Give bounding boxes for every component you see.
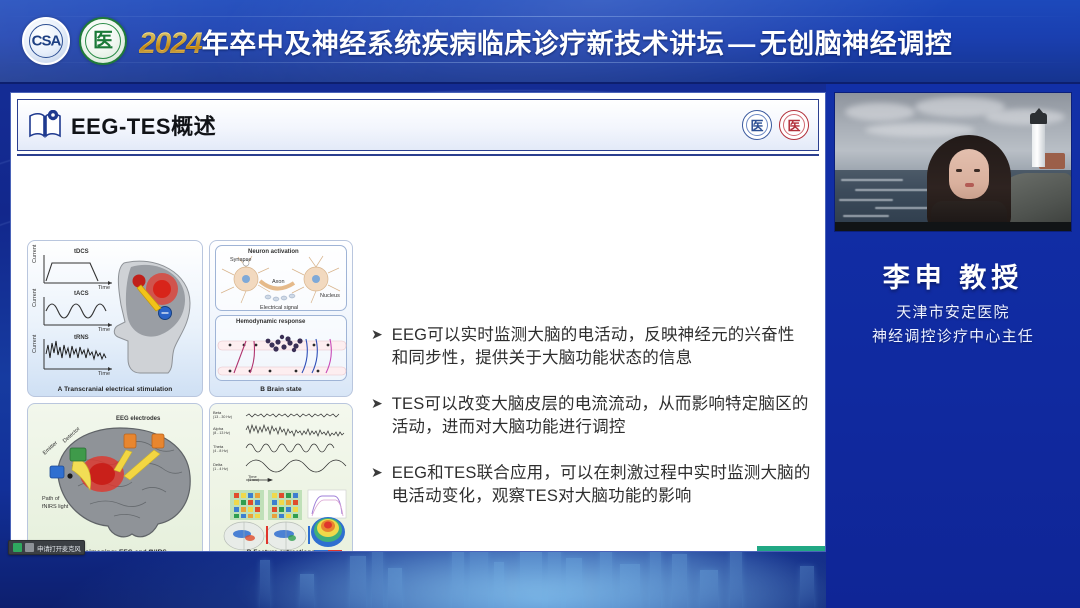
video-cloud bbox=[985, 109, 1065, 125]
video-person-eye bbox=[974, 169, 980, 172]
open-book-icon bbox=[28, 110, 62, 140]
video-wave bbox=[843, 215, 889, 217]
video-bottom-bar bbox=[835, 222, 1071, 231]
bullet-marker-icon: ➤ bbox=[371, 324, 383, 345]
figure-transcranial-electrical-stimulation: tDCS tACS tRNS Current Current Current T… bbox=[27, 240, 203, 397]
speaker-name: 李申 教授 bbox=[826, 256, 1080, 295]
figure-c-label-eeg-electrodes: EEG electrodes bbox=[116, 416, 160, 422]
figure-c-label-path-of-fnirs-light: fNIRS light bbox=[42, 504, 68, 510]
speaker-affiliation: 天津市安定医院 神经调控诊疗中心主任 bbox=[826, 301, 1080, 349]
figure-feature-extractions: Beta (13 - 30 Hz) Alpha (8 - 13 Hz) Thet… bbox=[209, 403, 353, 552]
figure-d-band-beta-range: (13 - 30 Hz) bbox=[213, 415, 232, 419]
event-title-sub: 无创脑神经调控 bbox=[760, 29, 953, 59]
speaker-panel: 李申 教授 天津市安定医院 神经调控诊疗中心主任 bbox=[826, 84, 1080, 608]
figure-d-axis-time-unit: (1 sec) bbox=[248, 478, 259, 482]
header-streak bbox=[0, 16, 1080, 17]
figure-b-caption: B Brain state bbox=[210, 386, 352, 393]
hospital-logo-text: 医 bbox=[93, 31, 113, 51]
figure-b-label-electrical-signal: Electrical signal bbox=[260, 305, 298, 311]
university-logo-red-text: 医 bbox=[787, 116, 800, 135]
figure-neuroimaging-eeg-fnirs: EEG electrodes Emitter Detector Path of … bbox=[27, 403, 203, 552]
presentation-slide[interactable]: EEG-TES概述 医 医 bbox=[10, 92, 826, 552]
speaker-video-feed[interactable] bbox=[834, 92, 1072, 232]
header-logo-group: CSA 医 bbox=[22, 17, 127, 65]
slide-logo-group: 医 医 bbox=[742, 110, 809, 140]
csa-logo-text: CSA bbox=[32, 33, 61, 50]
university-logo-red: 医 bbox=[779, 110, 809, 140]
figure-b-label-hemodynamic-response: Hemodynamic response bbox=[236, 319, 305, 325]
video-person-mouth bbox=[965, 183, 974, 187]
slide-content-area: tDCS tACS tRNS Current Current Current T… bbox=[11, 156, 825, 548]
slide-accent-bar bbox=[757, 546, 825, 551]
figure-b-label-axon: Axon bbox=[272, 279, 285, 285]
hospital-logo: 医 bbox=[79, 17, 127, 65]
figure-d-caption: D Feature extractions bbox=[210, 549, 352, 552]
microphone-icon[interactable] bbox=[13, 543, 22, 552]
figure-grid: tDCS tACS tRNS Current Current Current T… bbox=[27, 240, 353, 552]
bullet-text: TES可以改变大脑皮层的电流流动，从而影响特定脑区的活动，进而对大脑功能进行调控 bbox=[392, 393, 811, 440]
figure-b-label-neuron-activation: Neuron activation bbox=[248, 249, 299, 255]
slide-bullet-list: ➤ EEG可以实时监测大脑的电活动，反映神经元的兴奋性和同步性，提供关于大脑功能… bbox=[371, 324, 811, 531]
university-logo-blue-text: 医 bbox=[750, 116, 763, 135]
speaker-affiliation-line1: 天津市安定医院 bbox=[826, 301, 1080, 325]
csa-association-logo: CSA bbox=[22, 17, 70, 65]
figure-c-label-path-of-fnirs-light: Path of bbox=[42, 496, 59, 502]
event-year: 2024 bbox=[139, 27, 202, 60]
event-title: 2024年卒中及神经系统疾病临床诊疗新技术讲坛—无创脑神经调控 bbox=[139, 22, 952, 61]
bullet-item: ➤ TES可以改变大脑皮层的电流流动，从而影响特定脑区的活动，进而对大脑功能进行… bbox=[371, 393, 811, 440]
figure-a-axis-time: Time bbox=[98, 285, 110, 291]
figure-b-label-nucleus: Nucleus bbox=[320, 293, 340, 299]
university-logo-blue: 医 bbox=[742, 110, 772, 140]
mini-toolbar-label: 申请打开麦克风 bbox=[37, 543, 80, 553]
video-lighthouse-lantern bbox=[1030, 113, 1047, 124]
video-icon[interactable] bbox=[25, 543, 34, 552]
header-streak bbox=[0, 62, 1080, 63]
bullet-text: EEG可以实时监测大脑的电活动，反映神经元的兴奋性和同步性，提供关于大脑功能状态… bbox=[392, 324, 811, 371]
video-speaker-person bbox=[927, 135, 1011, 231]
event-title-dash: — bbox=[724, 29, 760, 59]
figure-b-label-synapse: Synapse bbox=[230, 257, 251, 263]
figure-d-band-alpha-range: (8 - 13 Hz) bbox=[213, 431, 230, 435]
video-person-face bbox=[949, 149, 989, 199]
figure-a-axis-current: Current bbox=[32, 245, 38, 263]
figure-a-label-trns: tRNS bbox=[74, 335, 89, 341]
video-lighthouse bbox=[1032, 121, 1045, 167]
figure-d-band-delta-range: (1 - 4 Hz) bbox=[213, 467, 228, 471]
video-wave bbox=[855, 189, 935, 191]
figure-a-axis-time: Time bbox=[98, 327, 110, 333]
video-wave bbox=[841, 179, 903, 181]
bullet-item: ➤ EEG可以实时监测大脑的电活动，反映神经元的兴奋性和同步性，提供关于大脑功能… bbox=[371, 324, 811, 371]
video-person-eye bbox=[956, 169, 962, 172]
video-cloud bbox=[845, 103, 915, 121]
figure-a-caption: A Transcranial electrical stimulation bbox=[28, 386, 202, 393]
figure-brain-state: Neuron activation Hemodynamic response S… bbox=[209, 240, 353, 397]
figure-d-band-theta-range: (4 - 8 Hz) bbox=[213, 449, 228, 453]
slide-title-bar: EEG-TES概述 医 医 bbox=[17, 99, 819, 151]
speaker-affiliation-line2: 神经调控诊疗中心主任 bbox=[826, 325, 1080, 349]
event-title-main: 年卒中及神经系统疾病临床诊疗新技术讲坛 bbox=[202, 29, 725, 59]
figure-a-label-tacs: tACS bbox=[74, 291, 89, 297]
floating-mini-toolbar[interactable]: 申请打开麦克风 bbox=[8, 540, 85, 555]
slide-title-text: EEG-TES概述 bbox=[71, 109, 216, 141]
bullet-marker-icon: ➤ bbox=[371, 393, 383, 414]
event-header-banner: CSA 医 2024年卒中及神经系统疾病临床诊疗新技术讲坛—无创脑神经调控 bbox=[0, 0, 1080, 84]
figure-a-axis-current: Current bbox=[32, 335, 38, 353]
figure-a-axis-time: Time bbox=[98, 371, 110, 377]
bullet-item: ➤ EEG和TES联合应用，可以在刺激过程中实时监测大脑的电活动变化，观察TES… bbox=[371, 462, 811, 509]
figure-a-label-tdcs: tDCS bbox=[74, 249, 89, 255]
bullet-text: EEG和TES联合应用，可以在刺激过程中实时监测大脑的电活动变化，观察TES对大… bbox=[392, 462, 811, 509]
bullet-marker-icon: ➤ bbox=[371, 462, 383, 483]
video-wave bbox=[839, 199, 893, 201]
figure-a-axis-current: Current bbox=[32, 289, 38, 307]
